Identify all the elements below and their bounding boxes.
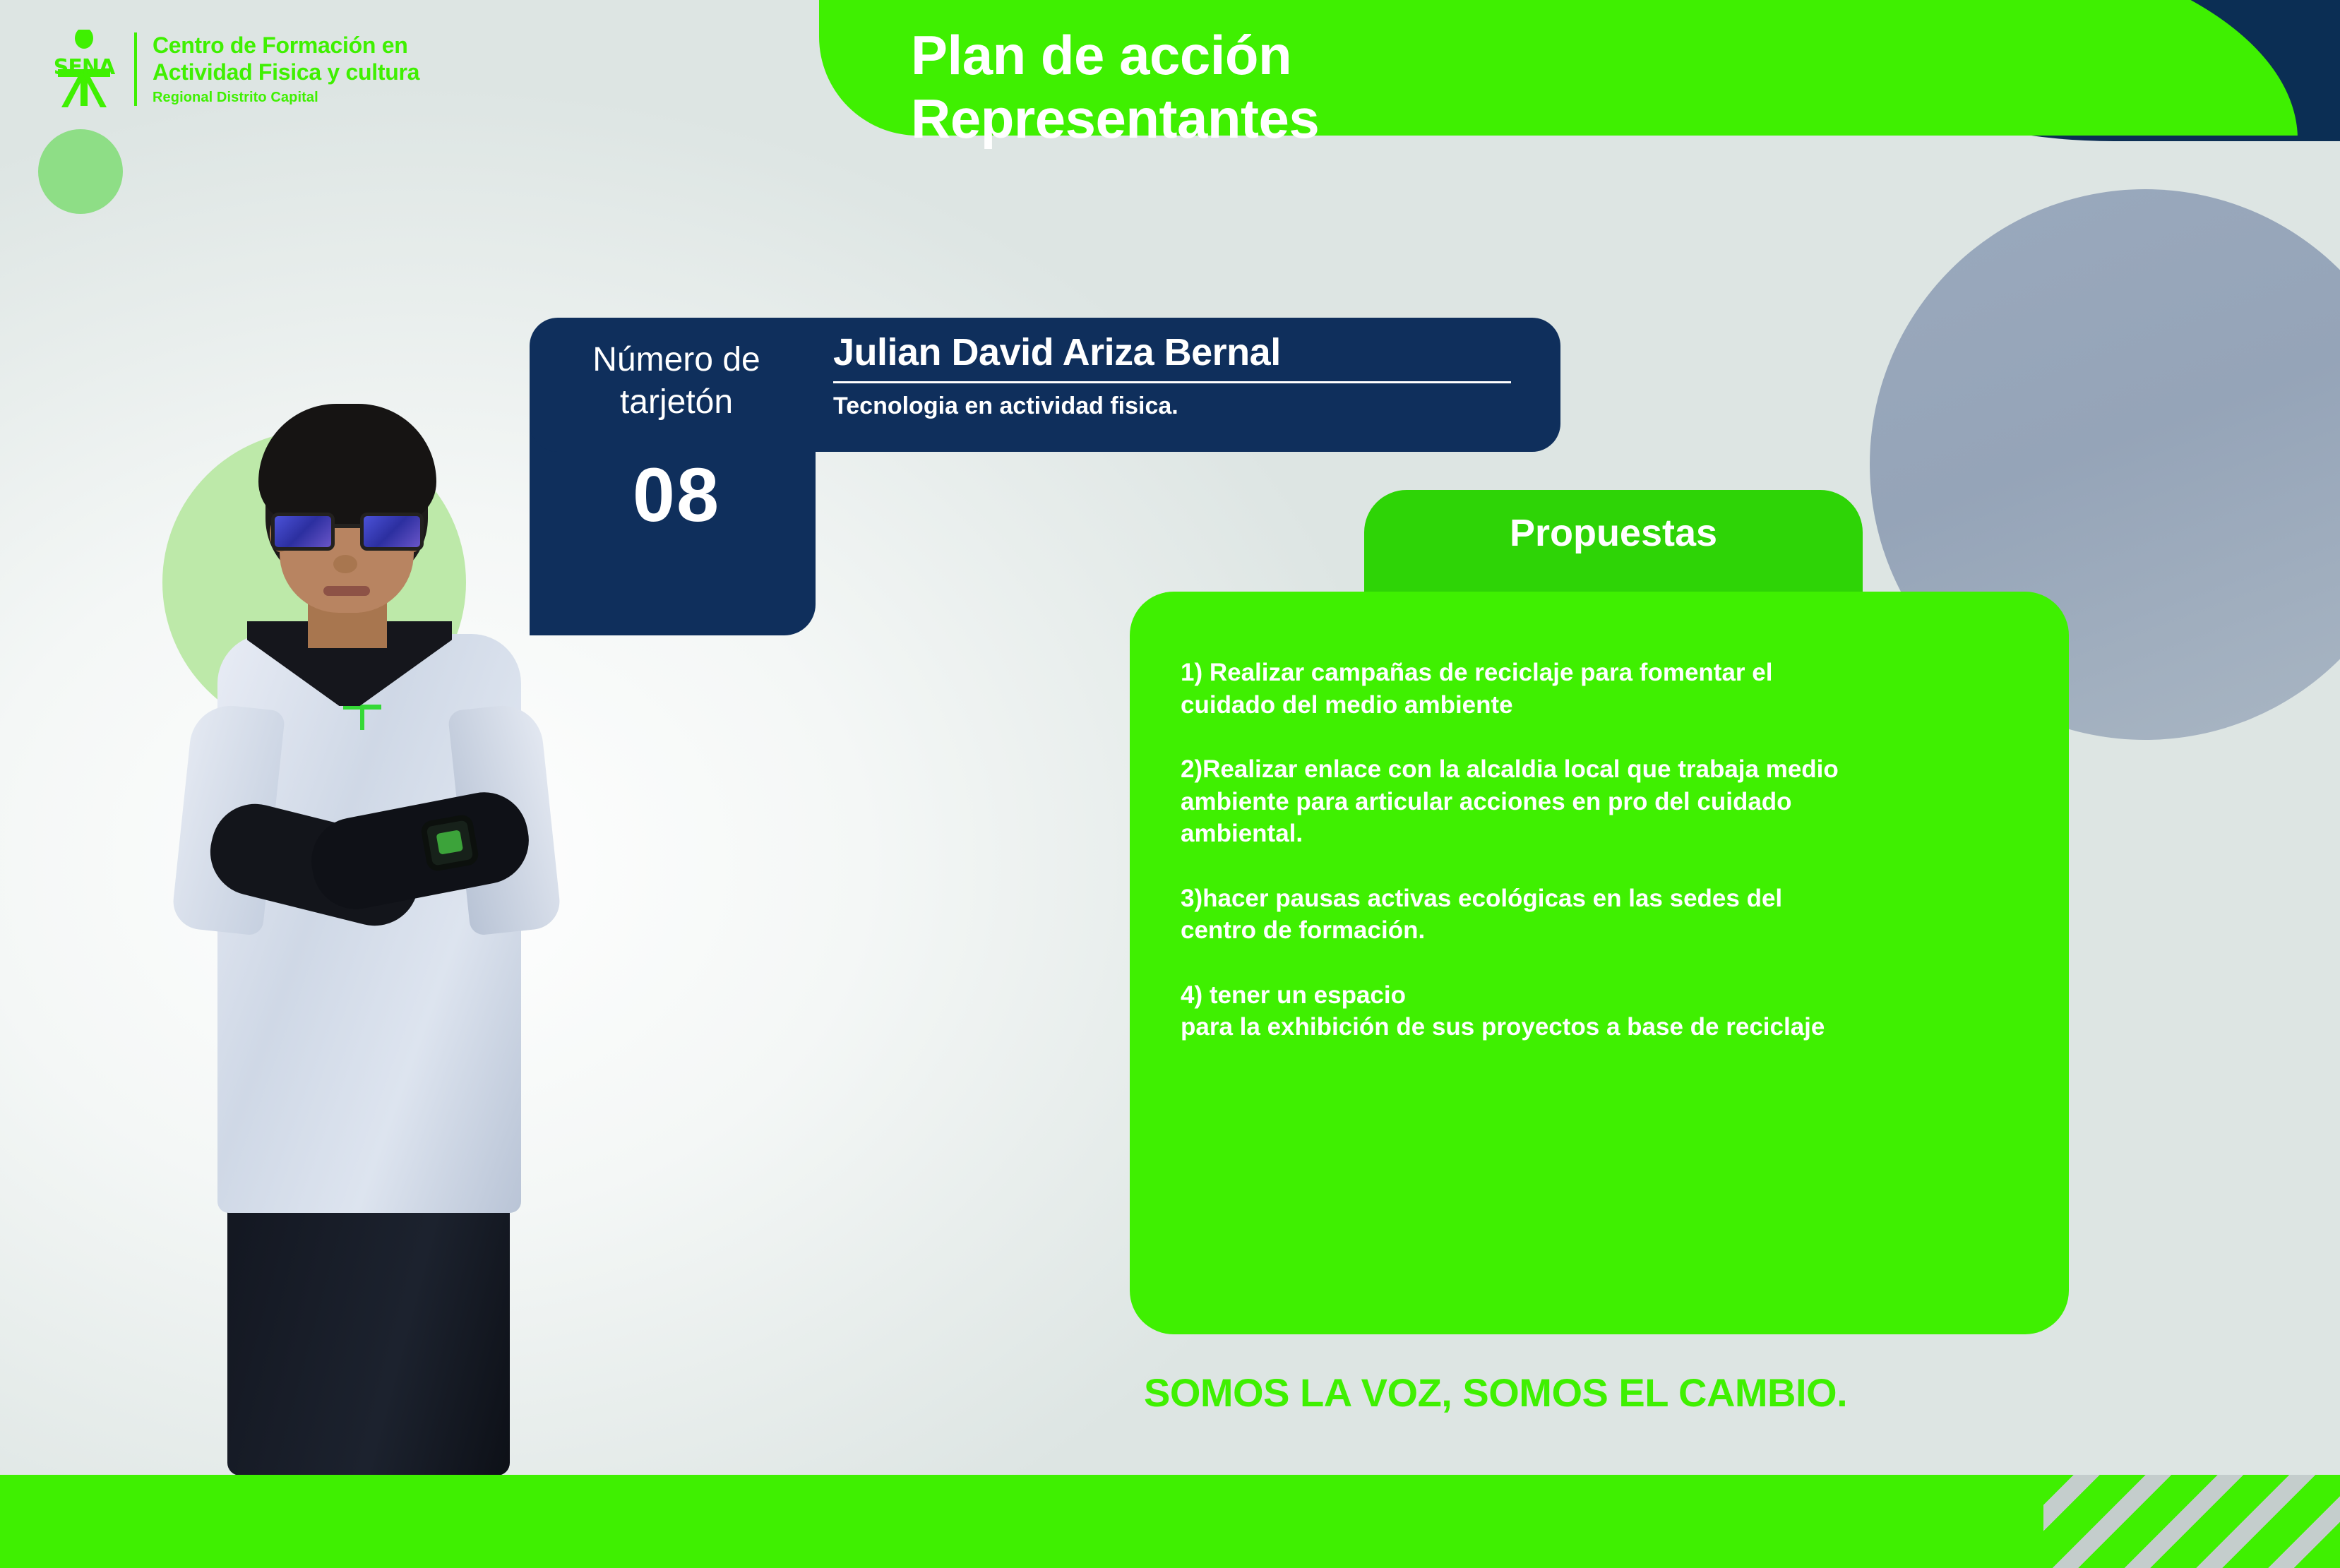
- sena-logo-icon: SENA: [49, 30, 119, 109]
- proposal-item: 3)hacer pausas activas ecológicas en las…: [1181, 882, 2035, 947]
- proposal-item: 1) Realizar campañas de reciclaje para f…: [1181, 657, 2035, 721]
- proposal-item: 2)Realizar enlace con la alcaldia local …: [1181, 753, 2035, 850]
- candidate-program: Tecnologia en actividad fisica.: [833, 393, 1539, 420]
- brand-text-block: Centro de Formación en Actividad Fisica …: [153, 32, 419, 106]
- brand-line-1: Centro de Formación en: [153, 32, 419, 59]
- photo-wristwatch: [419, 813, 479, 873]
- photo-mouth: [323, 586, 370, 596]
- candidate-name-underline: [833, 381, 1511, 383]
- photo-nose: [333, 555, 357, 573]
- candidate-photo: [141, 409, 593, 1476]
- brand-line-3: Regional Distrito Capital: [153, 90, 419, 106]
- footer-diagonal-stripes: [2043, 1475, 2340, 1568]
- brand-lockup: SENA Centro de Formación en Actividad Fi…: [49, 30, 419, 109]
- sena-wordmark: SENA: [49, 55, 119, 80]
- page-title: Plan de acción Representantes: [911, 24, 1319, 150]
- tarjeton-label: Número de tarjetón: [538, 339, 815, 424]
- candidate-name: Julian David Ariza Bernal: [833, 330, 1539, 374]
- brand-divider: [134, 32, 137, 106]
- brand-line-2: Actividad Fisica y cultura: [153, 59, 419, 86]
- photo-eyeglasses-icon: [271, 513, 424, 553]
- photo-hair: [258, 404, 436, 524]
- decor-circle-green-small: [38, 129, 123, 214]
- photo-shorts: [227, 1179, 510, 1476]
- tarjeton-number: 08: [538, 450, 815, 539]
- campaign-slogan: SOMOS LA VOZ, SOMOS EL CAMBIO.: [1144, 1370, 1847, 1416]
- poster-canvas: Plan de acción Representantes SENA Centr…: [0, 0, 2340, 1568]
- page-title-line1: Plan de acción: [911, 24, 1319, 88]
- proposal-item: 4) tener un espacio para la exhibición d…: [1181, 979, 2035, 1043]
- proposals-list: 1) Realizar campañas de reciclaje para f…: [1181, 657, 2035, 1076]
- page-title-line2: Representantes: [911, 88, 1319, 151]
- footer-bar: [0, 1475, 2340, 1568]
- proposals-tab-label: Propuestas: [1364, 511, 1863, 555]
